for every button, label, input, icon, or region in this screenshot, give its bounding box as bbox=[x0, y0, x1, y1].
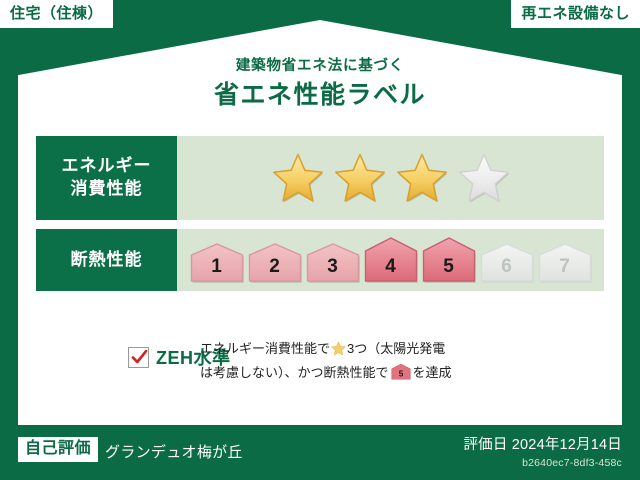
page-title: 省エネ性能ラベル bbox=[0, 80, 640, 111]
evaluation-date: 評価日 2024年12月14日 bbox=[463, 433, 622, 454]
document-id: b2640ec7-8df3-458c bbox=[463, 457, 622, 469]
row-energy-performance: エネルギー 消費性能 bbox=[36, 136, 604, 220]
star-filled-icon bbox=[396, 152, 448, 204]
zeh-description: エネルギー消費性能で 3つ（太陽光発電 は考慮しない）、かつ断熱性能で 5 を達… bbox=[188, 336, 604, 386]
insulation-grade-2: 2 bbox=[248, 242, 302, 284]
row-label-energy-line1: エネルギー bbox=[62, 155, 152, 178]
title-subtitle: 建築物省エネ法に基づく bbox=[0, 58, 640, 75]
row-body-insulation: 1234567 bbox=[177, 229, 604, 291]
house-badge-icon bbox=[248, 242, 302, 284]
zeh-desc-part2: は考慮しない）、かつ断熱性能で bbox=[200, 365, 389, 380]
star-filled-icon bbox=[334, 152, 386, 204]
zeh-desc-star-count: 3つ（太陽光発電 bbox=[347, 341, 445, 356]
insulation-grade-scale: 1234567 bbox=[190, 236, 592, 284]
check-icon bbox=[130, 348, 149, 367]
insulation-grade-3: 3 bbox=[306, 242, 360, 284]
row-body-energy bbox=[177, 136, 604, 220]
house-badge-icon bbox=[364, 236, 418, 284]
energy-performance-label: 住宅（住棟） 再エネ設備なし 建築物省エネ法に基づく 省エネ性能ラベル エネルギ… bbox=[0, 0, 640, 480]
row-label-insulation: 断熱性能 bbox=[36, 229, 177, 291]
insulation-grade-6: 6 bbox=[480, 242, 534, 284]
building-name: グランデュオ梅が丘 bbox=[105, 437, 243, 462]
row-label-energy-line2: 消費性能 bbox=[71, 178, 143, 201]
zeh-checkbox[interactable] bbox=[128, 347, 149, 368]
house-badge-icon bbox=[190, 242, 244, 284]
badge-renewable-energy: 再エネ設備なし bbox=[511, 0, 640, 28]
footer-right: 評価日 2024年12月14日 b2640ec7-8df3-458c bbox=[463, 433, 622, 469]
house-badge-icon bbox=[480, 242, 534, 284]
row-label-energy: エネルギー 消費性能 bbox=[36, 136, 177, 220]
zeh-desc-part1: エネルギー消費性能で bbox=[200, 341, 330, 356]
footer-left: 自己評価 グランデュオ梅が丘 bbox=[18, 437, 243, 462]
house-badge-icon bbox=[538, 242, 592, 284]
insulation-grade-7: 7 bbox=[538, 242, 592, 284]
star-empty-icon bbox=[458, 152, 510, 204]
zeh-section: ZEH水準 エネルギー消費性能で 3つ（太陽光発電 は考慮しない）、かつ断熱性能… bbox=[36, 336, 604, 386]
zeh-status: ZEH水準 bbox=[36, 336, 188, 370]
row-insulation-performance: 断熱性能 1234567 bbox=[36, 229, 604, 291]
zeh-desc-part3: を達成 bbox=[413, 365, 452, 380]
badge-building-type: 住宅（住棟） bbox=[0, 0, 113, 28]
insulation-grade-5: 5 bbox=[422, 236, 476, 284]
insulation-grade-4: 4 bbox=[364, 236, 418, 284]
star-rating bbox=[272, 152, 510, 204]
footer: 自己評価 グランデュオ梅が丘 評価日 2024年12月14日 b2640ec7-… bbox=[0, 425, 640, 480]
inline-star-icon bbox=[331, 341, 346, 362]
title-block: 建築物省エネ法に基づく 省エネ性能ラベル bbox=[0, 58, 640, 112]
performance-rows: エネルギー 消費性能 断熱性能 1234567 bbox=[36, 136, 604, 300]
svg-text:5: 5 bbox=[398, 370, 403, 379]
house-badge-icon bbox=[306, 242, 360, 284]
inline-grade-badge: 5 bbox=[391, 363, 411, 386]
row-label-insulation-line1: 断熱性能 bbox=[71, 249, 143, 272]
insulation-grade-1: 1 bbox=[190, 242, 244, 284]
house-badge-icon bbox=[422, 236, 476, 284]
star-filled-icon bbox=[272, 152, 324, 204]
badge-self-evaluation: 自己評価 bbox=[18, 437, 98, 462]
